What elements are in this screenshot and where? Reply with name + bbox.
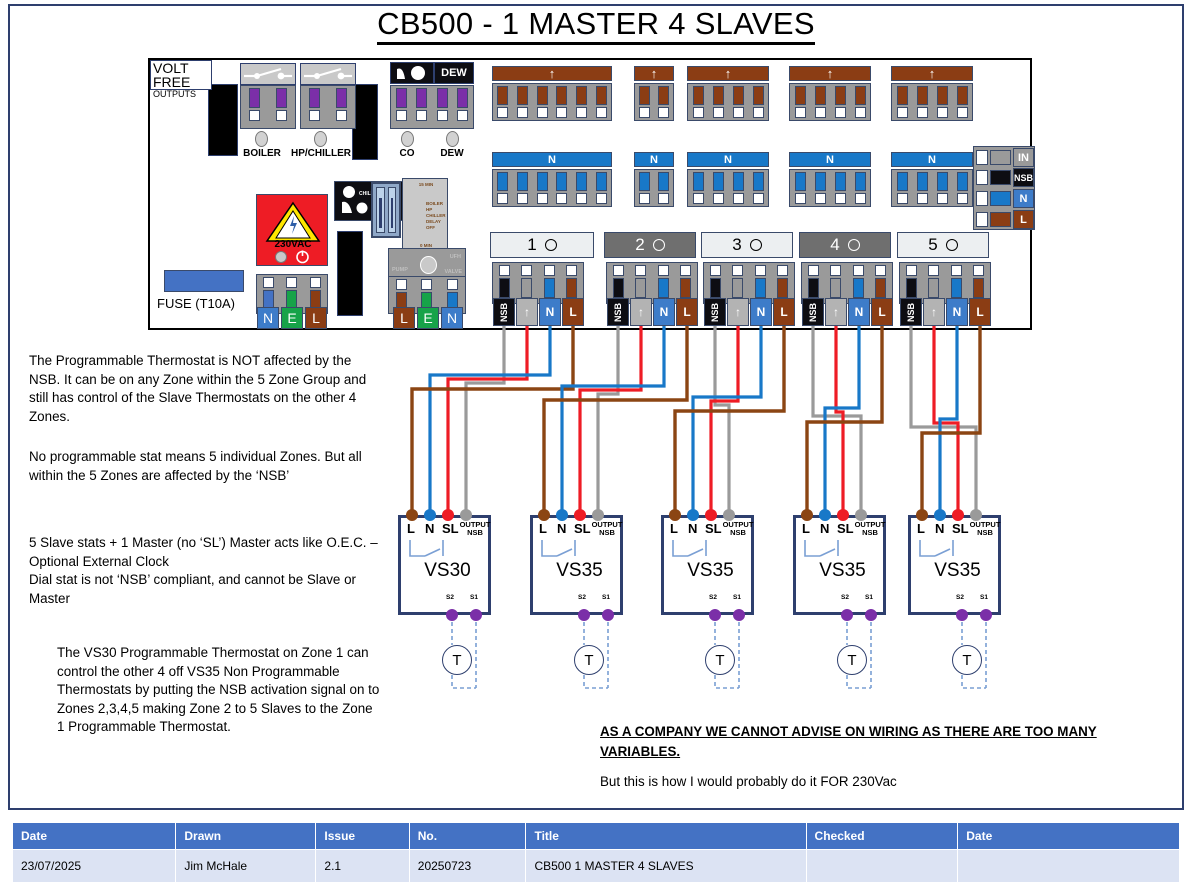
zone1-tag-live: L	[562, 298, 584, 326]
mode-knob[interactable]	[420, 256, 437, 274]
thermostat-model: VS35	[796, 560, 889, 582]
thermostat-model: VS30	[401, 560, 494, 582]
zone5-tag-neutral: N	[946, 298, 968, 326]
room-sensor-5: T	[952, 645, 982, 675]
terminal-cell[interactable]	[708, 84, 728, 120]
zone1-tag-nsb: NSB	[493, 298, 515, 326]
neutral-bar-label-3: N	[724, 154, 732, 166]
delay-side-label: BOILER HP CHILLER DELAY OFF	[426, 201, 446, 231]
room-sensor-2: T	[574, 645, 604, 675]
thermostat-5: L N SL OUTPUTNSB VS35 S2 S1	[908, 515, 1001, 615]
legend-tag-l: L	[1013, 210, 1034, 229]
terminal-cell[interactable]	[728, 170, 748, 206]
terminal-cell[interactable]	[810, 84, 830, 120]
neutral-terminal-block-2[interactable]	[634, 169, 674, 207]
terminal-cell[interactable]	[412, 86, 433, 128]
terminal-cell[interactable]	[538, 263, 561, 303]
thermostat1-node-output-nsb	[460, 509, 472, 521]
live-terminal-block-5[interactable]	[891, 83, 973, 121]
thermostat4-node-live	[801, 509, 813, 521]
dew-led-label: DEW	[428, 148, 476, 159]
thermostat5-node-switched-live	[952, 509, 964, 521]
hp-chiller-led	[314, 131, 327, 147]
terminal-cell[interactable]	[727, 263, 750, 303]
thermostat-sensor-terminal-s2: S2	[578, 594, 586, 601]
terminal-cell[interactable]	[830, 84, 850, 120]
neutral-bar-zone3: N	[687, 152, 769, 167]
terminal-cell[interactable]	[328, 86, 355, 128]
valve-label: VALVE	[444, 269, 462, 275]
neutral-bar-zone5: N	[891, 152, 973, 167]
pump-terminal-l: L	[393, 307, 415, 329]
footer-cell-4: CB500 1 MASTER 4 SLAVES	[526, 850, 806, 883]
terminal-cell[interactable]	[493, 263, 516, 303]
thermostat-terminal-sl: SL	[837, 521, 854, 536]
dew-led	[446, 131, 459, 147]
terminal-cell[interactable]	[708, 170, 728, 206]
footer-cell-6	[958, 850, 1180, 883]
dew-badge: DEW	[434, 62, 474, 84]
terminal-cell[interactable]	[513, 170, 533, 206]
fuse-block	[164, 270, 244, 292]
thermostat-sensor-terminal-s1: S1	[865, 594, 873, 601]
thermostat5-sensor-node-s2	[956, 609, 968, 621]
zone-led-icon	[750, 239, 762, 251]
terminal-cell[interactable]	[825, 263, 848, 303]
dip-switch-2[interactable]	[388, 187, 397, 233]
thermostat-model: VS35	[533, 560, 626, 582]
terminal-cell[interactable]	[847, 263, 870, 303]
co-led	[401, 131, 414, 147]
thermostat4-node-switched-live	[837, 509, 849, 521]
thermostat1-node-switched-live	[442, 509, 454, 521]
volt-free-line2: OUTPUTS	[151, 89, 211, 100]
pump-label: PUMP	[392, 267, 408, 273]
terminal-cell[interactable]	[301, 86, 328, 128]
thermostat1-sensor-node-s2	[446, 609, 458, 621]
zone4-tag-live: L	[871, 298, 893, 326]
thermostat2-node-live	[538, 509, 550, 521]
thermostat2-node-neutral	[556, 509, 568, 521]
thermostat-model: VS35	[664, 560, 757, 582]
internal-switch-icon	[802, 538, 850, 560]
footer-header-title-4: Title	[526, 823, 806, 850]
arrow-up-icon: ↑	[651, 68, 658, 79]
terminal-cell[interactable]	[552, 170, 572, 206]
supply-terminal-n: N	[257, 307, 279, 329]
switch-icon	[241, 64, 295, 84]
terminal-cell[interactable]	[728, 84, 748, 120]
thermostat1-node-live	[406, 509, 418, 521]
thermostat-1: L N SL OUTPUTNSB VS30 S2 S1	[398, 515, 491, 615]
thermostat-terminal-sl: SL	[574, 521, 591, 536]
thermostat-terminal-sl: SL	[442, 521, 459, 536]
terminal-cell[interactable]	[572, 84, 592, 120]
thermostat-terminal-n: N	[425, 521, 434, 536]
terminal-cell[interactable]	[453, 86, 474, 128]
terminal-cell[interactable]	[704, 263, 727, 303]
thermostat-sensor-terminal-s2: S2	[709, 594, 717, 601]
legend-screw	[976, 191, 988, 206]
zone4-tag-neutral: N	[848, 298, 870, 326]
zone5-tag-live: L	[969, 298, 991, 326]
zone1-tag-neutral: N	[539, 298, 561, 326]
thermostat-terminal-l: L	[917, 521, 925, 536]
footer-header-drawn-1: Drawn	[176, 823, 316, 850]
footer-header-date-0: Date	[13, 823, 176, 850]
zone-led-icon	[653, 239, 665, 251]
live-bar-zone5: ↑	[891, 66, 973, 81]
thermostat-terminal-n: N	[688, 521, 697, 536]
neutral-bar-zone4: N	[789, 152, 871, 167]
legend-swatch-nsb	[990, 170, 1011, 185]
terminal-cell[interactable]	[591, 170, 611, 206]
thermostat-model: VS35	[911, 560, 1004, 582]
legend-tag-nsb: NSB	[1013, 168, 1034, 187]
boiler-relay-cap	[240, 63, 296, 85]
terminal-cell[interactable]	[532, 84, 552, 120]
terminal-cell[interactable]	[968, 263, 991, 303]
neutral-bar-zone2: N	[634, 152, 674, 167]
zone1-tag-output: ↑	[516, 298, 538, 326]
power-icon	[295, 249, 310, 264]
live-bar-zone4: ↑	[789, 66, 871, 81]
live-bar-zone1: ↑	[492, 66, 612, 81]
terminal-cell[interactable]	[654, 84, 673, 120]
terminal-legend: IN NSB N L	[973, 146, 1035, 230]
dew-badge-text: DEW	[441, 67, 467, 79]
terminal-cell[interactable]	[923, 263, 946, 303]
terminal-cell[interactable]	[432, 86, 453, 128]
note-3: 5 Slave stats + 1 Master (no ‘SL’) Maste…	[29, 534, 379, 608]
thermostat2-node-output-nsb	[592, 509, 604, 521]
live-terminal-block-1[interactable]	[492, 83, 612, 121]
footer-header-date-6: Date	[958, 823, 1180, 850]
terminal-cell[interactable]	[932, 84, 952, 120]
internal-switch-icon	[539, 538, 587, 560]
thermostat3-node-live	[669, 509, 681, 521]
arrow-up-icon: ↑	[827, 68, 834, 79]
thermostat4-sensor-node-s2	[841, 609, 853, 621]
terminal-cell[interactable]	[688, 170, 708, 206]
thermostat-2: L N SL OUTPUTNSB VS35 S2 S1	[530, 515, 623, 615]
footer-cell-2: 2.1	[316, 850, 409, 883]
internal-switch-icon	[407, 538, 455, 560]
terminal-cell[interactable]	[591, 84, 611, 120]
zone4-tag-nsb: NSB	[802, 298, 824, 326]
thermostat-terminal-l: L	[407, 521, 415, 536]
thermostat4-sensor-node-s1	[865, 609, 877, 621]
thermostat-output-nsb-label: OUTPUTNSB	[591, 521, 623, 537]
terminal-cell[interactable]	[850, 84, 870, 120]
zone3-tag-neutral: N	[750, 298, 772, 326]
terminal-cell[interactable]	[952, 170, 972, 206]
thermostat-sensor-terminal-s2: S2	[841, 594, 849, 601]
zone3-tag-output: ↑	[727, 298, 749, 326]
terminal-cell[interactable]	[516, 263, 539, 303]
legend-swatch-l	[990, 212, 1011, 227]
zone4-tag-output: ↑	[825, 298, 847, 326]
terminal-cell[interactable]	[268, 86, 295, 128]
terminal-cell[interactable]	[630, 263, 653, 303]
zone2-tag-neutral: N	[653, 298, 675, 326]
zone-header-5[interactable]: 5	[897, 232, 989, 258]
footer-cell-0: 23/07/2025	[13, 850, 176, 883]
live-terminal-block-2[interactable]	[634, 83, 674, 121]
terminal-cell[interactable]	[654, 170, 673, 206]
note-4: The VS30 Programmable Thermostat on Zone…	[57, 644, 382, 737]
zone5-tag-nsb: NSB	[900, 298, 922, 326]
thermostat2-sensor-node-s2	[578, 609, 590, 621]
ufh-label: UFH	[450, 254, 461, 260]
internal-switch-icon	[917, 538, 965, 560]
terminal-cell[interactable]	[635, 170, 654, 206]
footer-header-checked-5: Checked	[806, 823, 958, 850]
note-2: No programmable stat means 5 individual …	[29, 448, 374, 485]
terminal-cell[interactable]	[802, 263, 825, 303]
delay-module: 15 MIN 0 MIN BOILER HP CHILLER DELAY OFF	[402, 178, 448, 254]
pump-terminal-e: E	[417, 307, 439, 329]
neutral-terminal-block-4[interactable]	[789, 169, 871, 207]
thermostat-output-nsb-label: OUTPUTNSB	[722, 521, 754, 537]
footer-cell-1: Jim McHale	[176, 850, 316, 883]
footer-cell-5	[806, 850, 958, 883]
terminal-cell[interactable]	[748, 84, 768, 120]
thermostat-sensor-terminal-s2: S2	[446, 594, 454, 601]
hazard-voltage-label: 230VAC	[257, 239, 329, 250]
thermostat3-sensor-node-s2	[709, 609, 721, 621]
thermostat-sensor-terminal-s1: S1	[470, 594, 478, 601]
electric-shock-icon	[265, 201, 321, 243]
fuse-label: FUSE (T10A)	[157, 296, 235, 311]
thermostat-terminal-sl: SL	[705, 521, 722, 536]
supply-terminal-l: L	[305, 307, 327, 329]
legend-swatch-n	[990, 191, 1011, 206]
hp-chiller-terminal-block[interactable]	[300, 85, 356, 129]
terminal-cell[interactable]	[493, 170, 513, 206]
thermostat-sensor-terminal-s1: S1	[602, 594, 610, 601]
terminal-cell[interactable]	[532, 170, 552, 206]
arrow-up-icon: ↑	[549, 68, 556, 79]
terminal-cell[interactable]	[932, 170, 952, 206]
zone5-tag-output: ↑	[923, 298, 945, 326]
footer-cell-3: 20250723	[409, 850, 526, 883]
terminal-cell[interactable]	[748, 170, 768, 206]
co-led-label: CO	[385, 148, 429, 159]
disclaimer-warning-text: AS A COMPANY WE CANNOT ADVISE ON WIRING …	[600, 724, 1097, 759]
note-1: The Programmable Thermostat is NOT affec…	[29, 352, 379, 426]
dip-switch-1[interactable]	[376, 187, 385, 233]
neutral-terminal-block-5[interactable]	[891, 169, 973, 207]
legend-tag-in: IN	[1013, 148, 1034, 167]
switch-icon	[301, 64, 355, 84]
neutral-bar-label-4: N	[826, 154, 834, 166]
terminal-cell[interactable]	[493, 84, 513, 120]
terminal-cell[interactable]	[688, 84, 708, 120]
thermostat2-node-switched-live	[574, 509, 586, 521]
thermostat-sensor-terminal-s2: S2	[956, 594, 964, 601]
thermostat5-node-neutral	[934, 509, 946, 521]
hazard-230vac: 230VAC	[256, 194, 328, 266]
legend-swatch-in	[990, 150, 1011, 165]
legend-row-in: IN	[976, 148, 1034, 167]
thermostat5-sensor-node-s1	[980, 609, 992, 621]
terminal-cell[interactable]	[561, 263, 584, 303]
legend-row-nsb: NSB	[976, 168, 1034, 187]
neutral-bar-label-1: N	[548, 154, 556, 166]
terminal-cell[interactable]	[952, 84, 972, 120]
hp-chiller-led-label: HP/CHILLER	[288, 148, 354, 159]
power-led	[275, 251, 287, 263]
terminal-cell[interactable]	[900, 263, 923, 303]
terminal-cell[interactable]	[790, 170, 810, 206]
zone-led-icon	[848, 239, 860, 251]
zone-number-1: 1	[527, 235, 536, 255]
terminal-cell[interactable]	[607, 263, 630, 303]
thermostat2-sensor-node-s1	[602, 609, 614, 621]
terminal-cell[interactable]	[241, 86, 268, 128]
internal-switch-icon	[670, 538, 718, 560]
thermostat-4: L N SL OUTPUTNSB VS35 S2 S1	[793, 515, 886, 615]
live-bar-zone2: ↑	[634, 66, 674, 81]
thermostat-terminal-l: L	[539, 521, 547, 536]
neutral-bar-label-5: N	[928, 154, 936, 166]
delay-top-label: 15 MIN	[403, 182, 449, 187]
terminal-cell[interactable]	[850, 170, 870, 206]
neutral-terminal-block-1[interactable]	[492, 169, 612, 207]
terminal-cell[interactable]	[830, 170, 850, 206]
zone-number-2: 2	[635, 235, 644, 255]
zone-number-4: 4	[830, 235, 839, 255]
zone3-tag-nsb: NSB	[704, 298, 726, 326]
zone-header-2[interactable]: 2	[604, 232, 696, 258]
thermostat1-sensor-node-s1	[470, 609, 482, 621]
terminal-cell[interactable]	[892, 170, 912, 206]
room-sensor-1: T	[442, 645, 472, 675]
supply-terminal-e: E	[281, 307, 303, 329]
thermostat-terminal-n: N	[557, 521, 566, 536]
terminal-cell[interactable]	[892, 84, 912, 120]
terminal-cell[interactable]	[391, 86, 412, 128]
terminal-cell[interactable]	[749, 263, 772, 303]
boiler-led	[255, 131, 268, 147]
volt-free-line1: VOLT FREE	[151, 61, 211, 89]
zone2-tag-output: ↑	[630, 298, 652, 326]
zone-number-3: 3	[732, 235, 741, 255]
thermostat-sensor-terminal-s1: S1	[980, 594, 988, 601]
terminal-cell[interactable]	[513, 84, 533, 120]
thermostat-terminal-n: N	[935, 521, 944, 536]
black-bar-1	[208, 84, 238, 156]
thermostat5-node-live	[916, 509, 928, 521]
terminal-cell[interactable]	[652, 263, 675, 303]
thermostat3-node-neutral	[687, 509, 699, 521]
live-terminal-block-3[interactable]	[687, 83, 769, 121]
zone-header-4[interactable]: 4	[799, 232, 891, 258]
terminal-cell[interactable]	[870, 263, 893, 303]
terminal-cell[interactable]	[572, 170, 592, 206]
footer-header-no-3: No.	[409, 823, 526, 850]
legend-row-l: L	[976, 210, 1034, 229]
terminal-cell[interactable]	[772, 263, 795, 303]
thermostat-output-nsb-label: OUTPUTNSB	[854, 521, 886, 537]
zone3-tag-live: L	[773, 298, 795, 326]
zone-led-icon	[545, 239, 557, 251]
arrow-up-icon: ↑	[929, 68, 936, 79]
terminal-cell[interactable]	[675, 263, 698, 303]
thermostat-sensor-terminal-s1: S1	[733, 594, 741, 601]
thermostat-terminal-l: L	[802, 521, 810, 536]
co-dew-terminal-block[interactable]	[390, 85, 474, 129]
hp-chiller-relay-cap	[300, 63, 356, 85]
footer-data-row: 23/07/2025Jim McHale2.120250723CB500 1 M…	[13, 850, 1180, 883]
terminal-cell[interactable]	[790, 84, 810, 120]
zone-header-1[interactable]: 1	[490, 232, 594, 258]
thermostat-output-nsb-label: OUTPUTNSB	[459, 521, 491, 537]
thermostat3-node-switched-live	[705, 509, 717, 521]
zone-number-5: 5	[928, 235, 937, 255]
live-bar-zone3: ↑	[687, 66, 769, 81]
zone2-tag-nsb: NSB	[607, 298, 629, 326]
legend-screw	[976, 170, 988, 185]
zone-led-icon	[946, 239, 958, 251]
neutral-bar-zone1: N	[492, 152, 612, 167]
thermostat4-node-output-nsb	[855, 509, 867, 521]
legend-screw	[976, 150, 988, 165]
terminal-cell[interactable]	[810, 170, 830, 206]
pump-terminal-n: N	[441, 307, 463, 329]
neutral-terminal-block-3[interactable]	[687, 169, 769, 207]
thermostat-3: L N SL OUTPUTNSB VS35 S2 S1	[661, 515, 754, 615]
humidity-icon	[391, 63, 433, 83]
terminal-cell[interactable]	[945, 263, 968, 303]
thermostat3-node-output-nsb	[723, 509, 735, 521]
neutral-bar-label-2: N	[650, 154, 658, 166]
footer-header-issue-2: Issue	[316, 823, 409, 850]
thermostat5-node-output-nsb	[970, 509, 982, 521]
page-title: CB500 - 1 MASTER 4 SLAVES	[0, 6, 1192, 42]
terminal-cell[interactable]	[635, 84, 654, 120]
footer-table: DateDrawnIssueNo.TitleCheckedDate 23/07/…	[12, 822, 1180, 883]
footer-header-row: DateDrawnIssueNo.TitleCheckedDate	[13, 823, 1180, 850]
disclaimer-subtext: But this is how I would probably do it F…	[600, 772, 1178, 792]
dip-switch[interactable]	[371, 182, 401, 238]
thermostat-terminal-sl: SL	[952, 521, 969, 536]
thermostat3-sensor-node-s1	[733, 609, 745, 621]
thermostat-terminal-l: L	[670, 521, 678, 536]
zone-header-3[interactable]: 3	[701, 232, 793, 258]
terminal-cell[interactable]	[912, 84, 932, 120]
terminal-cell[interactable]	[912, 170, 932, 206]
co-dew-relay-cap	[390, 62, 434, 84]
boiler-led-label: BOILER	[236, 148, 288, 159]
room-sensor-3: T	[705, 645, 735, 675]
thermostat1-node-neutral	[424, 509, 436, 521]
arrow-up-icon: ↑	[725, 68, 732, 79]
legend-screw	[976, 212, 988, 227]
legend-tag-n: N	[1013, 189, 1034, 208]
room-sensor-4: T	[837, 645, 867, 675]
page-title-text: CB500 - 1 MASTER 4 SLAVES	[377, 6, 815, 45]
terminal-cell[interactable]	[552, 84, 572, 120]
live-terminal-block-4[interactable]	[789, 83, 871, 121]
legend-row-n: N	[976, 189, 1034, 208]
thermostat-terminal-n: N	[820, 521, 829, 536]
boiler-terminal-block[interactable]	[240, 85, 296, 129]
volt-free-outputs-label: VOLT FREE OUTPUTS	[150, 60, 212, 90]
black-bar-3	[337, 231, 363, 316]
thermostat4-node-neutral	[819, 509, 831, 521]
